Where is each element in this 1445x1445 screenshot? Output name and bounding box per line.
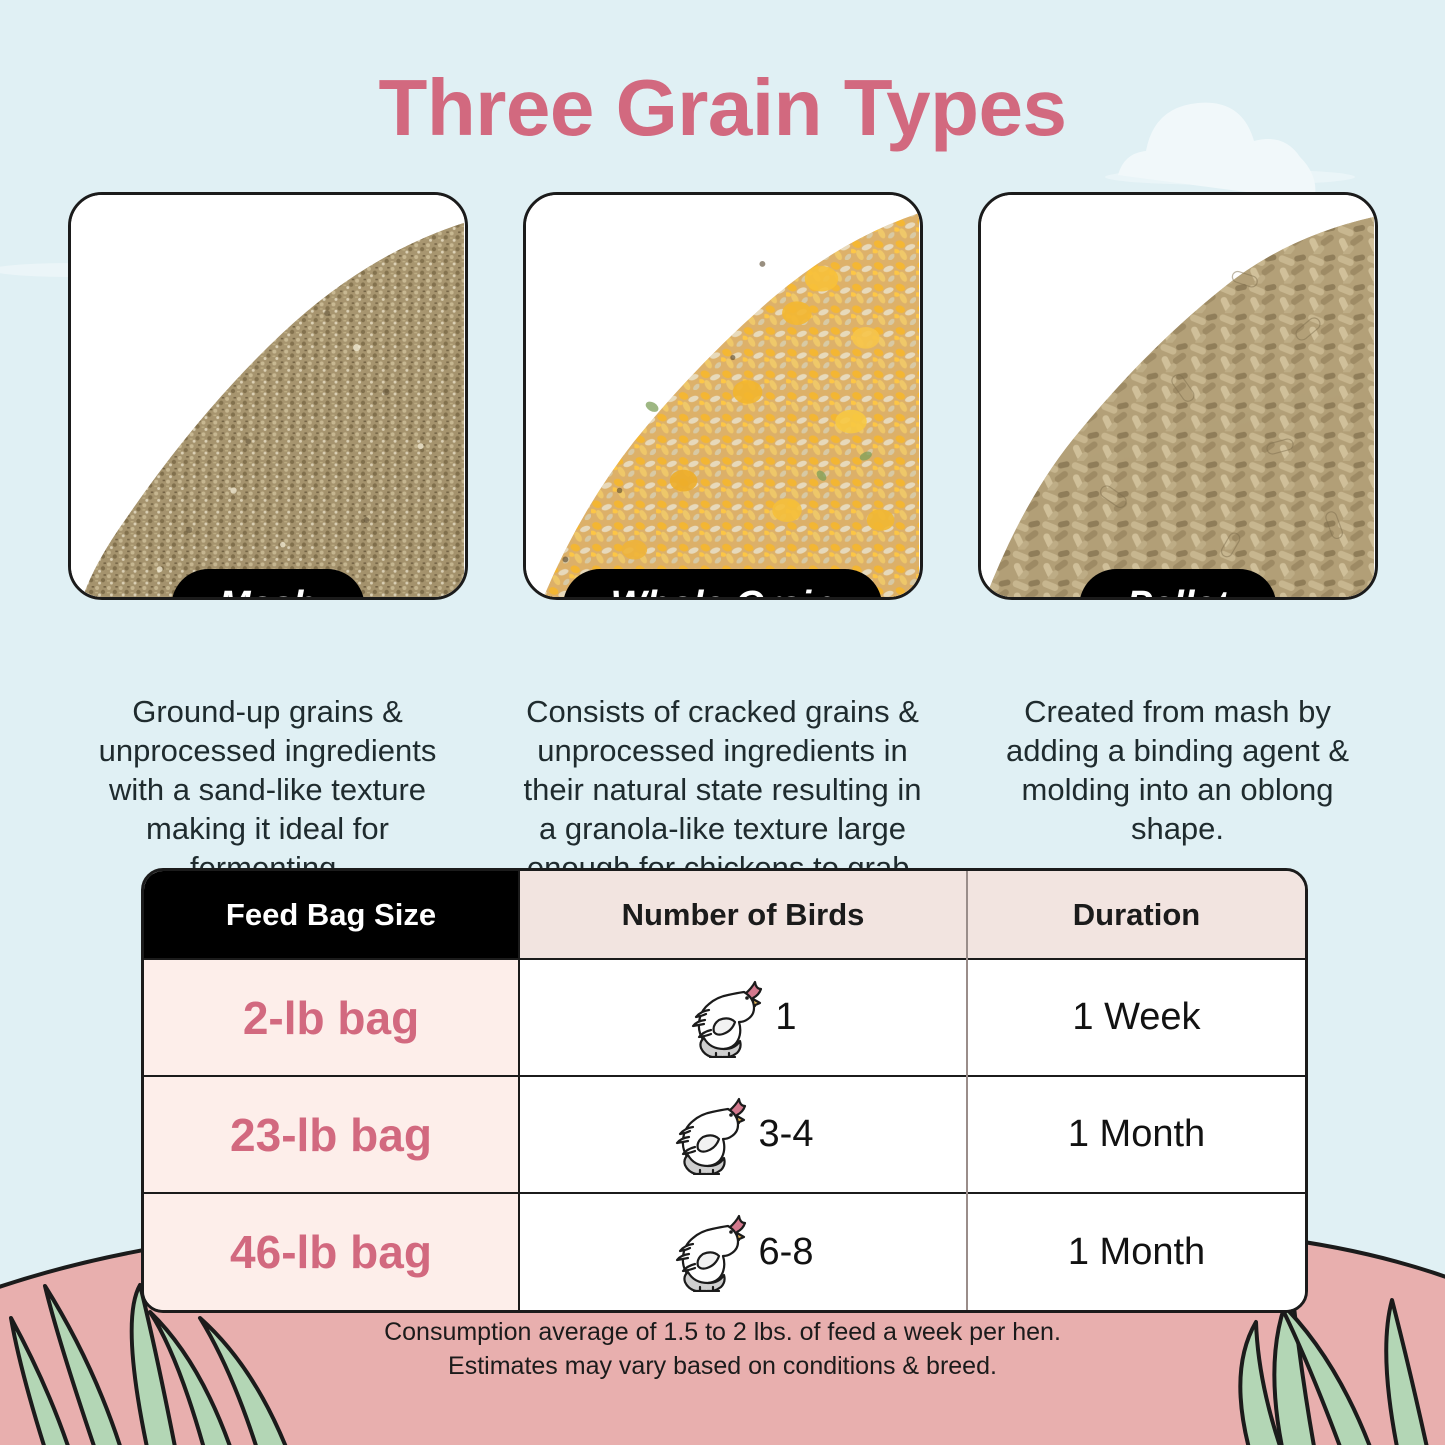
- footnote-line-1: Consumption average of 1.5 to 2 lbs. of …: [0, 1316, 1445, 1350]
- footnote: Consumption average of 1.5 to 2 lbs. of …: [0, 1316, 1445, 1384]
- column-header-feed-bag-size: Feed Bag Size: [144, 871, 519, 959]
- cell-number-of-birds: 6-8: [519, 1193, 967, 1310]
- mash-photo-frame: Mash: [68, 192, 468, 600]
- grain-description-mash: Ground-up grains & unprocessed ingredien…: [68, 692, 468, 887]
- pellet-photo-frame: Pellet: [978, 192, 1378, 600]
- bird-count-value: 6-8: [759, 1231, 814, 1274]
- chicken-icon: [689, 978, 763, 1058]
- page-title: Three Grain Types: [0, 68, 1445, 148]
- grain-card-whole-grain: Whole Grain Consists of cracked grains &…: [523, 192, 923, 887]
- grain-badge-mash: Mash: [171, 569, 364, 600]
- grain-card-mash: Mash Ground-up grains & unprocessed ingr…: [68, 192, 468, 887]
- grain-description-whole-grain: Consists of cracked grains & unprocessed…: [523, 692, 923, 887]
- chicken-icon: [673, 1095, 747, 1175]
- cell-bag-size: 2-lb bag: [144, 959, 519, 1076]
- whole-grain-photo-frame: Whole Grain: [523, 192, 923, 600]
- cell-number-of-birds: 1: [519, 959, 967, 1076]
- table-row: 2-lb bag: [144, 959, 1305, 1076]
- bird-count-value: 1: [775, 996, 796, 1039]
- table-row: 46-lb bag: [144, 1193, 1305, 1310]
- cell-duration: 1 Month: [967, 1076, 1305, 1193]
- table-header-row: Feed Bag Size Number of Birds Duration: [144, 871, 1305, 959]
- grain-badge-whole-grain: Whole Grain: [563, 569, 883, 600]
- whole-grain-photo: [526, 195, 920, 597]
- table-row: 23-lb bag: [144, 1076, 1305, 1193]
- grain-badge-pellet: Pellet: [1079, 569, 1276, 600]
- mash-grain-photo: [71, 195, 465, 597]
- cell-duration: 1 Month: [967, 1193, 1305, 1310]
- pellet-photo: [981, 195, 1375, 597]
- cell-number-of-birds: 3-4: [519, 1076, 967, 1193]
- infographic-canvas: Three Grain Types: [0, 0, 1445, 1445]
- grain-card-pellet: Pellet Created from mash by adding a bin…: [978, 192, 1378, 887]
- cell-duration: 1 Week: [967, 959, 1305, 1076]
- bird-count-value: 3-4: [759, 1113, 814, 1156]
- grain-description-pellet: Created from mash by adding a binding ag…: [978, 692, 1378, 848]
- cell-bag-size: 46-lb bag: [144, 1193, 519, 1310]
- footnote-line-2: Estimates may vary based on conditions &…: [0, 1350, 1445, 1384]
- feed-bag-table: Feed Bag Size Number of Birds Duration 2…: [141, 868, 1308, 1313]
- chicken-icon: [673, 1212, 747, 1292]
- column-header-duration: Duration: [967, 871, 1305, 959]
- grain-card-row: Mash Ground-up grains & unprocessed ingr…: [0, 192, 1445, 887]
- cell-bag-size: 23-lb bag: [144, 1076, 519, 1193]
- column-header-number-of-birds: Number of Birds: [519, 871, 967, 959]
